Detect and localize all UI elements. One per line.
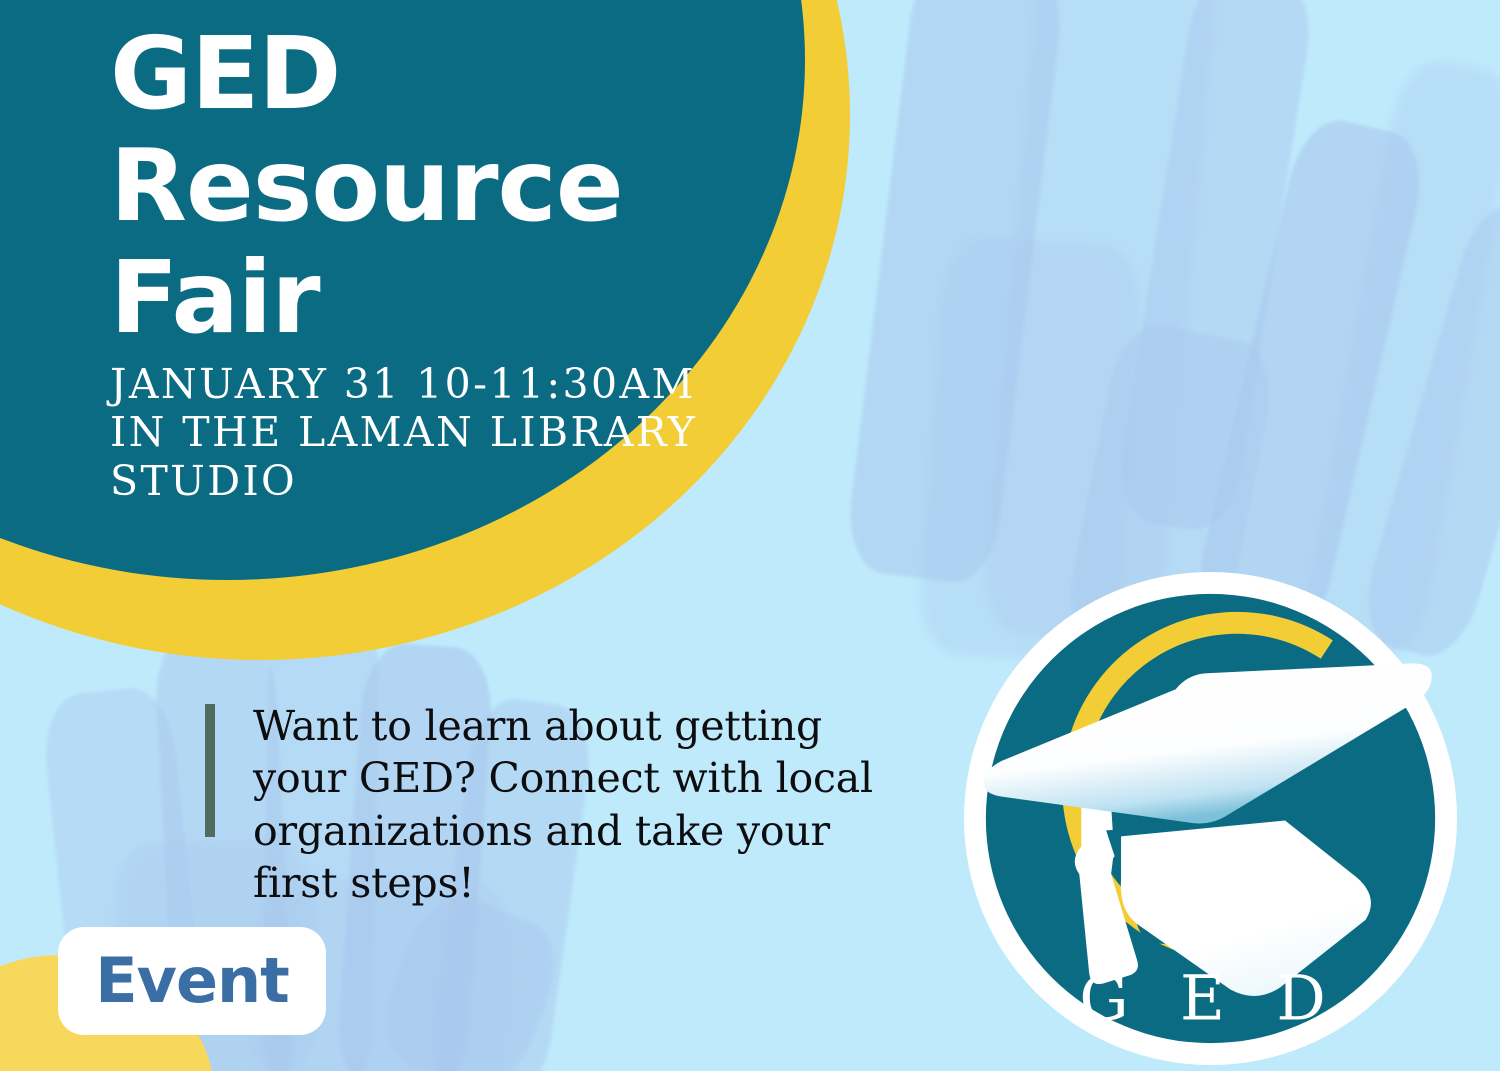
event-flyer: GED Resource Fair JANUARY 31 10-11:30AM … (0, 0, 1500, 1071)
headline-block: GED Resource Fair JANUARY 31 10-11:30AM … (110, 18, 730, 505)
title-line-2: Resource (110, 130, 730, 242)
body-text: Want to learn about getting your GED? Co… (253, 700, 905, 910)
watercolor-stroke (1188, 112, 1432, 648)
logo-wordmark: G E D (1079, 962, 1341, 1034)
ged-logo-graphic: G E D (962, 570, 1459, 1067)
watercolor-stroke (843, 0, 1067, 587)
event-badge: Event (58, 927, 326, 1035)
watercolor-stroke (370, 885, 571, 1071)
ged-logo: G E D (962, 570, 1459, 1067)
event-datetime: JANUARY 31 10-11:30AM (110, 360, 730, 408)
accent-rule (205, 704, 215, 837)
event-location-line-2: STUDIO (110, 457, 730, 505)
page-title: GED Resource Fair (110, 18, 730, 354)
title-line-1: GED (110, 18, 730, 130)
event-details: JANUARY 31 10-11:30AM IN THE LAMAN LIBRA… (110, 360, 730, 505)
watercolor-stroke (980, 0, 1220, 647)
event-location-line-1: IN THE LAMAN LIBRARY (110, 408, 730, 456)
title-line-3: Fair (110, 242, 730, 354)
event-badge-label: Event (95, 950, 289, 1012)
watercolor-stroke (1112, 0, 1318, 536)
body-block: Want to learn about getting your GED? Co… (205, 700, 905, 910)
